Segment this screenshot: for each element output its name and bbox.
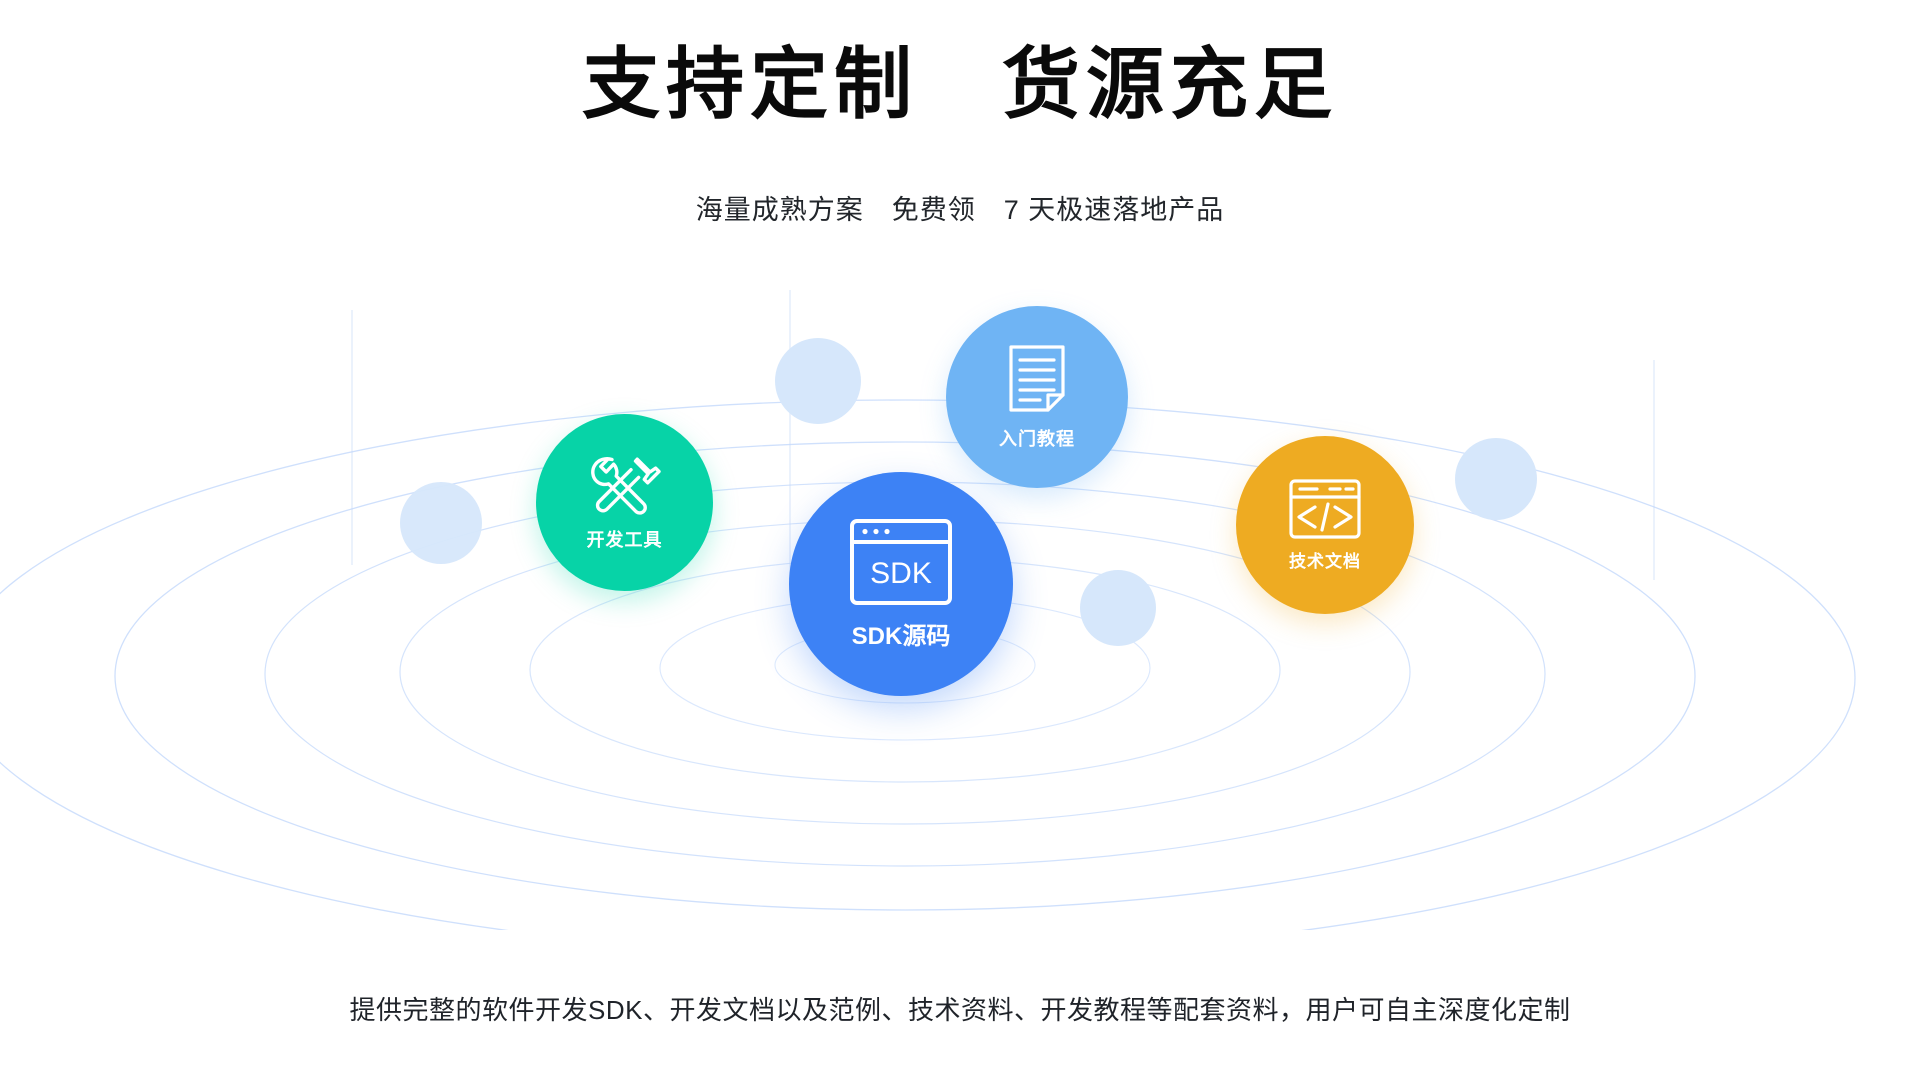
- bubble-tutorial[interactable]: 入门教程: [946, 306, 1128, 488]
- bubble-dev-tools[interactable]: 开发工具: [536, 414, 713, 591]
- code-window-icon: [1288, 478, 1362, 540]
- decorative-dot: [1080, 570, 1156, 646]
- page-subtitle: 海量成熟方案 免费领 7 天极速落地产品: [0, 188, 1920, 227]
- wrench-hammer-icon: [588, 453, 662, 519]
- decorative-dot: [400, 482, 482, 564]
- bubble-label: 入门教程: [999, 425, 1075, 451]
- bubble-label: 技术文档: [1289, 547, 1361, 572]
- page-title: 支持定制 货源充足: [0, 36, 1920, 134]
- footer-caption: 提供完整的软件开发SDK、开发文档以及范例、技术资料、开发教程等配套资料，用户可…: [0, 990, 1920, 1027]
- decorative-dot: [775, 338, 861, 424]
- illustration-scene: 开发工具 入门教程: [0, 250, 1920, 930]
- document-icon: [1007, 344, 1067, 418]
- bubble-tech-docs[interactable]: 技术文档: [1236, 436, 1414, 614]
- bubble-label: SDK源码: [852, 616, 951, 651]
- bubble-sdk[interactable]: SDK SDK源码: [789, 472, 1013, 696]
- sdk-window-icon: SDK: [849, 518, 953, 606]
- promo-banner: 支持定制 货源充足 海量成熟方案 免费领 7 天极速落地产品: [0, 0, 1920, 1080]
- decorative-dot: [1455, 438, 1537, 520]
- bubble-label: 开发工具: [587, 526, 663, 552]
- sdk-icon-text: SDK: [870, 557, 932, 590]
